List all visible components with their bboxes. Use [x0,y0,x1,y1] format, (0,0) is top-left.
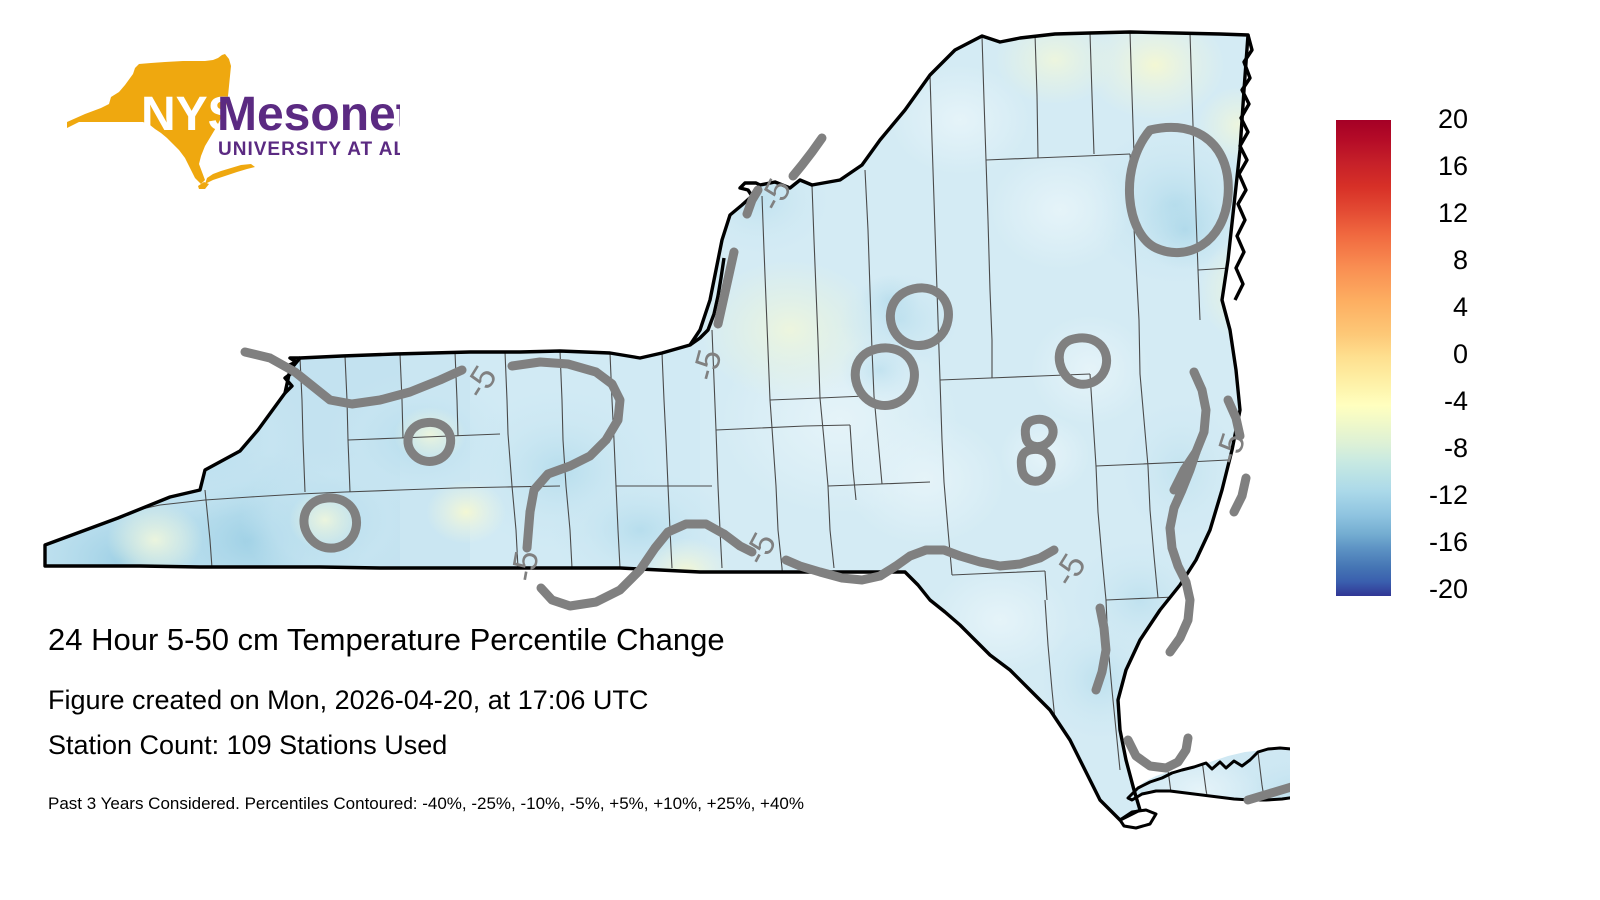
figure-created-timestamp: Figure created on Mon, 2026-04-20, at 17… [48,682,1128,718]
logo-secondary-text: Mesonet [217,88,400,141]
contour-footnote: Past 3 Years Considered. Percentiles Con… [48,793,1128,815]
colorbar-tick: 8 [1406,243,1468,277]
colorbar-tick-labels: 20 16 12 8 4 0 -4 -8 -12 -16 -20 [1406,102,1556,614]
colorbar-tick: 4 [1406,290,1468,324]
colorbar-tick: -8 [1406,431,1468,465]
station-count: Station Count: 109 Stations Used [48,727,1128,763]
colorbar-tick: -12 [1406,478,1468,512]
nys-mesonet-logo: NYS Mesonet UNIVERSITY AT ALBANY [55,52,400,197]
caption-block: 24 Hour 5-50 cm Temperature Percentile C… [48,620,1128,815]
map-title: 24 Hour 5-50 cm Temperature Percentile C… [48,620,1128,660]
colorbar-tick: 12 [1406,196,1468,230]
colorbar-tick: 0 [1406,337,1468,371]
logo-subtitle: UNIVERSITY AT ALBANY [218,139,400,160]
figure-canvas: -5 -5 -5 -5 -5 -5 -5 NYS Mesonet [0,0,1600,900]
colorbar-tick: 16 [1406,149,1468,183]
colorbar: 20 16 12 8 4 0 -4 -8 -12 -16 -20 [1336,120,1566,600]
colorbar-tick: -4 [1406,384,1468,418]
colorbar-gradient [1336,120,1391,596]
colorbar-tick: -20 [1406,572,1468,606]
colorbar-tick: -16 [1406,525,1468,559]
colorbar-tick: 20 [1406,102,1468,136]
